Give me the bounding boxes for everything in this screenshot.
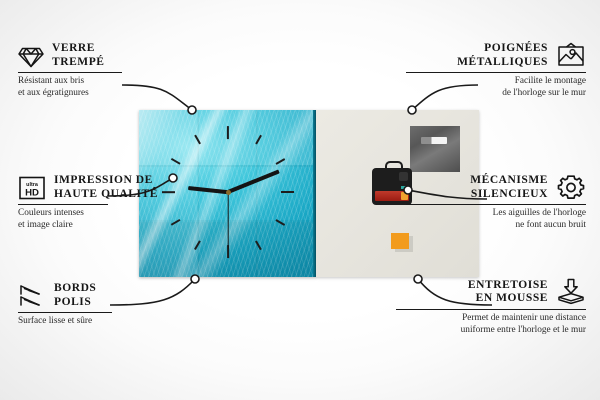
- callout-title-line1: BORDS: [54, 282, 96, 296]
- callout-header: VERRE TREMPÉ: [18, 42, 168, 69]
- callout-sub-line1: Permet de maintenir une distance: [396, 313, 586, 325]
- foam-spacer: [391, 233, 409, 249]
- callout-title-line1: MÉCANISME: [470, 174, 548, 188]
- callout-mecanisme-silencieux: MÉCANISME SILENCIEUX Les aiguilles de l'…: [406, 174, 586, 231]
- callout-sub-line1: Facilite le montage: [406, 76, 586, 88]
- callout-title-line2: MÉTALLIQUES: [457, 56, 548, 70]
- callout-header: POIGNÉES MÉTALLIQUES: [406, 42, 586, 69]
- gear-icon: [556, 174, 586, 201]
- callout-bords-polis: BORDS POLIS Surface lisse et sûre: [18, 282, 168, 328]
- callout-header: BORDS POLIS: [18, 282, 168, 309]
- callout-title-line2: EN MOUSSE: [468, 292, 548, 306]
- callout-rule: [406, 204, 586, 205]
- clock-center-cap: [226, 190, 231, 195]
- callout-sub-line1: Surface lisse et sûre: [18, 316, 168, 328]
- callout-impression-hd: ultra HD IMPRESSION DE HAUTE QUALITÉ Cou…: [18, 174, 178, 231]
- callout-rule: [18, 72, 122, 73]
- callout-sub-line2: et aux égratignures: [18, 88, 168, 100]
- callout-poignees-metalliques: POIGNÉES MÉTALLIQUES Facilite le montage…: [406, 42, 586, 99]
- callout-sub-line2: et image claire: [18, 220, 178, 232]
- callout-title-line1: IMPRESSION DE: [54, 174, 158, 188]
- diamond-icon: [18, 44, 44, 68]
- battery: [375, 191, 409, 201]
- polished-edge-icon: [18, 283, 46, 309]
- callout-title-line2: SILENCIEUX: [470, 188, 548, 202]
- callout-header: MÉCANISME SILENCIEUX: [406, 174, 586, 201]
- svg-text:HD: HD: [25, 187, 39, 198]
- callout-title-line2: TREMPÉ: [52, 56, 105, 70]
- callout-header: ultra HD IMPRESSION DE HAUTE QUALITÉ: [18, 174, 178, 201]
- clock-second-hand: [227, 192, 228, 249]
- callout-sub-line2: ne font aucun bruit: [406, 220, 586, 232]
- callout-title-line1: POIGNÉES: [457, 42, 548, 56]
- callout-rule: [406, 72, 586, 73]
- callout-title-line1: ENTRETOISE: [468, 279, 548, 293]
- callout-title-line1: VERRE: [52, 42, 105, 56]
- callout-header: ENTRETOISE EN MOUSSE: [396, 278, 586, 306]
- clock-hour-marker: [227, 126, 229, 139]
- clock-hour-marker: [281, 191, 294, 193]
- ultra-hd-icon: ultra HD: [18, 175, 46, 201]
- callout-rule: [18, 312, 112, 313]
- callout-sub-line2: de l'horloge sur le mur: [406, 88, 586, 100]
- callout-verre-trempe: VERRE TREMPÉ Résistant aux bris et aux é…: [18, 42, 168, 99]
- callout-rule: [396, 309, 586, 310]
- callout-sub-line2: uniforme entre l'horloge et le mur: [396, 325, 586, 337]
- metal-hanger-plate: [410, 126, 460, 172]
- hanger-slot: [421, 137, 447, 144]
- callout-sub-line1: Résistant aux bris: [18, 76, 168, 88]
- callout-title-line2: POLIS: [54, 296, 96, 310]
- callout-rule: [18, 204, 108, 205]
- infographic-canvas: VERRE TREMPÉ Résistant aux bris et aux é…: [0, 0, 600, 400]
- callout-sub-line1: Couleurs intenses: [18, 208, 178, 220]
- callout-entretoise-mousse: ENTRETOISE EN MOUSSE Permet de maintenir…: [396, 278, 586, 336]
- callout-title-line2: HAUTE QUALITÉ: [54, 188, 158, 202]
- picture-hanger-icon: [556, 42, 586, 69]
- mechanism-hook: [385, 161, 403, 172]
- callout-sub-line1: Les aiguilles de l'horloge: [406, 208, 586, 220]
- foam-spacer-icon: [556, 278, 586, 306]
